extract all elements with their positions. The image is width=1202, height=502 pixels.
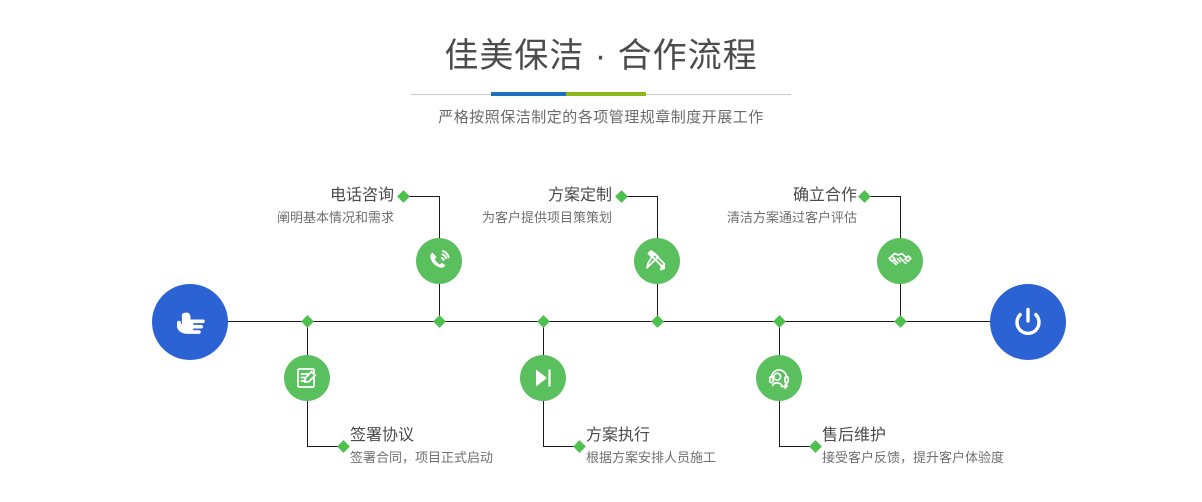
title-divider: [411, 90, 791, 100]
power-icon: [1006, 300, 1050, 344]
timeline-end-node[interactable]: [990, 284, 1066, 360]
handshake-icon: [886, 247, 914, 275]
page-subtitle: 严格按照保洁制定的各项管理规章制度开展工作: [0, 108, 1202, 128]
step-node-2[interactable]: [284, 355, 330, 401]
step-node-4[interactable]: [520, 355, 566, 401]
callout-marker-step-6: [858, 190, 871, 203]
callout-title-step-3: 方案定制: [330, 185, 612, 207]
divider-segment-blue: [491, 92, 566, 96]
axis-marker-step-5: [773, 315, 786, 328]
flowchart-canvas: 佳美保洁 · 合作流程 严格按照保洁制定的各项管理规章制度开展工作: [0, 0, 1202, 502]
callout-marker-step-2: [337, 440, 350, 453]
step-node-5[interactable]: [756, 355, 802, 401]
callout-desc-step-5: 接受客户反馈，提升客户体验度: [822, 447, 1142, 469]
callout-desc-step-3: 为客户提供项目策策划: [330, 207, 612, 229]
axis-marker-step-1: [433, 315, 446, 328]
step-node-1[interactable]: [416, 238, 462, 284]
callout-step-6: 确立合作 清洁方案通过客户评估: [575, 185, 857, 229]
document-edit-icon: [294, 365, 320, 391]
timeline-start-node[interactable]: [152, 284, 228, 360]
axis-marker-step-4: [537, 315, 550, 328]
pencil-ruler-icon: [644, 248, 670, 274]
callout-step-5: 售后维护 接受客户反馈，提升客户体验度: [822, 425, 1142, 469]
customer-service-icon: [766, 365, 792, 391]
header: 佳美保洁 · 合作流程 严格按照保洁制定的各项管理规章制度开展工作: [0, 34, 1202, 128]
axis-marker-step-3: [651, 315, 664, 328]
phone-call-icon: [425, 247, 453, 275]
play-execute-icon: [530, 365, 556, 391]
step-node-6[interactable]: [877, 238, 923, 284]
axis-marker-step-2: [301, 315, 314, 328]
divider-segment-green: [566, 92, 646, 96]
callout-desc-step-6: 清洁方案通过客户评估: [575, 207, 857, 229]
callout-step-3: 方案定制 为客户提供项目策策划: [330, 185, 612, 229]
hand-point-right-icon: [170, 302, 210, 342]
axis-marker-step-6: [894, 315, 907, 328]
callout-title-step-5: 售后维护: [822, 425, 1142, 447]
timeline-axis: [160, 321, 1042, 322]
page-title: 佳美保洁 · 合作流程: [0, 34, 1202, 78]
step-node-3[interactable]: [634, 238, 680, 284]
